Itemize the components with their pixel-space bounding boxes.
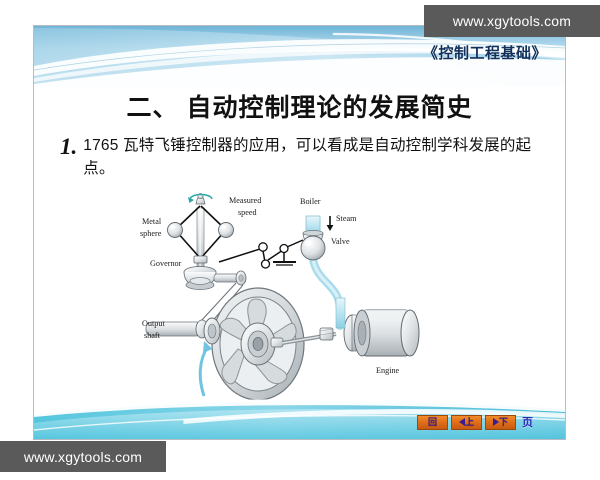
next-button[interactable]: 下 xyxy=(485,415,516,430)
label-boiler: Boiler xyxy=(300,197,321,206)
label-governor: Governor xyxy=(150,259,182,268)
watermark-top-right: www.xgytools.com xyxy=(424,5,600,37)
nav-page-label: 页 xyxy=(522,414,533,430)
screenshot-root: 《控制工程基础》 二、 自动控制理论的发展简史 1. 1765 瓦特飞锤控制器的… xyxy=(0,0,600,480)
label-metal-line2: sphere xyxy=(140,229,162,238)
home-button-glyph: 回 xyxy=(428,418,437,427)
label-measured-speed-line1: Measured xyxy=(229,196,261,205)
label-output-line1: Output xyxy=(142,319,165,328)
prev-button[interactable]: 上 xyxy=(451,415,482,430)
watt-governor-artwork: Measured speed Metal sphere Governor Boi… xyxy=(140,186,440,408)
label-valve: Valve xyxy=(331,237,350,246)
course-title: 《控制工程基础》 xyxy=(423,42,547,63)
bullet-number: 1. xyxy=(60,134,77,158)
next-button-glyph: 下 xyxy=(499,418,508,427)
label-engine: Engine xyxy=(376,366,400,375)
home-button[interactable]: 回 xyxy=(417,415,448,430)
label-metal-line1: Metal xyxy=(142,217,162,226)
label-measured-speed-line2: speed xyxy=(238,208,257,217)
label-output-line2: shaft xyxy=(144,331,161,340)
watermark-bottom-left: www.xgytools.com xyxy=(0,441,166,472)
bullet-item: 1. 1765 瓦特飞锤控制器的应用，可以看成是自动控制学科发展的起点。 xyxy=(60,134,543,181)
label-steam: Steam xyxy=(336,214,357,223)
slide-navigation-bar: 回 上 下 页 xyxy=(417,414,533,430)
bullet-text: 1765 瓦特飞锤控制器的应用，可以看成是自动控制学科发展的起点。 xyxy=(83,134,543,181)
page-title: 二、 自动控制理论的发展简史 xyxy=(34,88,565,124)
watt-governor-figure: Measured speed Metal sphere Governor Boi… xyxy=(140,186,440,408)
presentation-slide: 《控制工程基础》 二、 自动控制理论的发展简史 1. 1765 瓦特飞锤控制器的… xyxy=(33,25,566,440)
prev-button-glyph: 上 xyxy=(465,418,474,427)
